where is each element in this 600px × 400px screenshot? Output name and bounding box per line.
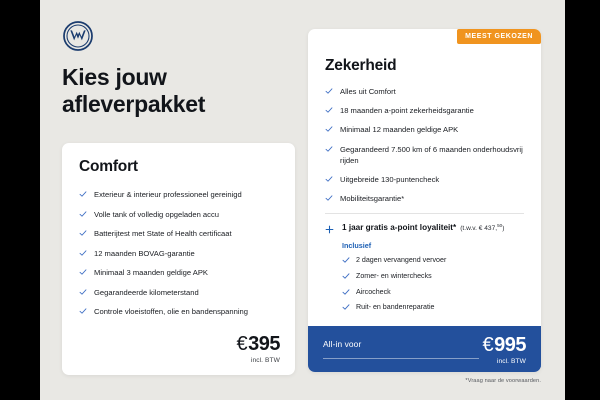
check-icon [79, 229, 87, 237]
check-icon [79, 268, 87, 276]
footnote: *Vraag naar de voorwaarden. [465, 378, 541, 384]
feature-text: 12 maanden BOVAG-garantie [94, 248, 195, 259]
check-icon [79, 210, 87, 218]
zekerheid-price-block: €995 incl. BTW [483, 335, 527, 365]
feature-text: Gegarandeerde kilometerstand [94, 287, 199, 298]
list-item: Controle vloeistoffen, olie en bandenspa… [79, 306, 278, 317]
list-item: 12 maanden BOVAG-garantie [79, 248, 278, 259]
check-icon [325, 87, 333, 95]
bonus-row: 1 jaar gratis a-point loyaliteit*(t.w.v.… [325, 223, 524, 234]
included-label: Inclusief [342, 241, 524, 250]
price-bar-label: All-in voor [323, 339, 361, 349]
check-icon [79, 249, 87, 257]
promo-canvas: Kies jouw afleverpakket Comfort Exterieu… [40, 0, 565, 400]
comfort-price-block: €395 incl. BTW [237, 334, 281, 364]
price-amount: 395 [248, 333, 280, 355]
bonus-value-suffix: ) [502, 225, 504, 232]
feature-text: Controle vloeistoffen, olie en bandenspa… [94, 306, 248, 317]
check-icon [342, 256, 349, 263]
list-item: Zomer- en winterchecks [342, 271, 524, 281]
included-text: Aircocheck [356, 287, 391, 297]
list-item: Minimaal 3 maanden geldige APK [79, 267, 278, 278]
zekerheid-price-note: incl. BTW [483, 358, 527, 365]
feature-text: Mobiliteitsgarantie* [340, 193, 404, 204]
section-divider [325, 213, 524, 214]
check-icon [325, 125, 333, 133]
headline-line-2: afleverpakket [62, 91, 312, 118]
included-text: Zomer- en winterchecks [356, 271, 432, 281]
feature-text: Minimaal 12 maanden geldige APK [340, 124, 458, 135]
feature-text: Gegarandeerd 7.500 km of 6 maanden onder… [340, 144, 524, 166]
list-item: 2 dagen vervangend vervoer [342, 255, 524, 265]
list-item: Volle tank of volledig opgeladen accu [79, 209, 278, 220]
check-icon [79, 307, 87, 315]
feature-text: Batterijtest met State of Health certifi… [94, 228, 232, 239]
comfort-price-note: incl. BTW [237, 357, 281, 364]
comfort-feature-list: Exterieur & interieur professioneel gere… [79, 189, 278, 317]
currency-symbol: € [483, 334, 494, 356]
feature-text: Alles uit Comfort [340, 86, 396, 97]
zekerheid-content: MEEST GEKOZEN Zekerheid Alles uit Comfor… [308, 29, 541, 313]
list-item: Exterieur & interieur professioneel gere… [79, 189, 278, 200]
package-card-comfort[interactable]: Comfort Exterieur & interieur profession… [62, 143, 295, 375]
included-section: Inclusief 2 dagen vervangend vervoer Zom… [342, 241, 524, 313]
zekerheid-feature-list: Alles uit Comfort 18 maanden a-point zek… [325, 86, 524, 204]
list-item: Aircocheck [342, 287, 524, 297]
comfort-price: €395 [237, 334, 281, 354]
included-text: Ruit- en bandenreparatie [356, 302, 434, 312]
feature-text: 18 maanden a-point zekerheidsgarantie [340, 105, 474, 116]
list-item: Uitgebreide 130-puntencheck [325, 174, 524, 185]
check-icon [325, 194, 333, 202]
check-icon [342, 288, 349, 295]
list-item: 18 maanden a-point zekerheidsgarantie [325, 105, 524, 116]
screenshot-stage: Kies jouw afleverpakket Comfort Exterieu… [0, 0, 600, 400]
price-amount: 995 [494, 334, 526, 356]
feature-text: Exterieur & interieur professioneel gere… [94, 189, 242, 200]
comfort-content: Comfort Exterieur & interieur profession… [62, 143, 295, 317]
bonus-label: 1 jaar gratis a-point loyaliteit* [342, 223, 456, 232]
bonus-text: 1 jaar gratis a-point loyaliteit*(t.w.v.… [342, 223, 504, 234]
zekerheid-price: €995 [483, 335, 527, 355]
check-icon [325, 106, 333, 114]
feature-text: Minimaal 3 maanden geldige APK [94, 267, 208, 278]
currency-symbol: € [237, 333, 248, 355]
included-text: 2 dagen vervangend vervoer [356, 255, 446, 265]
included-list: 2 dagen vervangend vervoer Zomer- en win… [342, 255, 524, 313]
bonus-value-prefix: (t.w.v. € 437, [460, 225, 497, 232]
zekerheid-price-bar: All-in voor €995 incl. BTW [308, 326, 541, 372]
feature-text: Volle tank of volledig opgeladen accu [94, 209, 219, 220]
list-item: Minimaal 12 maanden geldige APK [325, 124, 524, 135]
list-item: Alles uit Comfort [325, 86, 524, 97]
list-item: Mobiliteitsgarantie* [325, 193, 524, 204]
price-bar-rule [323, 358, 479, 359]
bonus-value: (t.w.v. € 437,50) [460, 225, 504, 232]
check-icon [79, 190, 87, 198]
package-card-zekerheid[interactable]: MEEST GEKOZEN Zekerheid Alles uit Comfor… [308, 29, 541, 372]
vw-logo-icon [62, 20, 94, 52]
price-bar-inner: All-in voor €995 incl. BTW [308, 326, 541, 372]
list-item: Gegarandeerde kilometerstand [79, 287, 278, 298]
list-item: Batterijtest met State of Health certifi… [79, 228, 278, 239]
check-icon [342, 272, 349, 279]
zekerheid-title: Zekerheid [325, 57, 524, 75]
check-icon [79, 288, 87, 296]
list-item: Ruit- en bandenreparatie [342, 302, 524, 312]
list-item: Gegarandeerd 7.500 km of 6 maanden onder… [325, 144, 524, 166]
page-title: Kies jouw afleverpakket [62, 64, 312, 118]
status-badge: MEEST GEKOZEN [457, 29, 541, 44]
plus-icon [325, 225, 334, 234]
feature-text: Uitgebreide 130-puntencheck [340, 174, 439, 185]
comfort-title: Comfort [79, 158, 278, 176]
check-icon [325, 175, 333, 183]
check-icon [325, 145, 333, 153]
check-icon [342, 303, 349, 310]
headline-line-1: Kies jouw [62, 64, 312, 91]
